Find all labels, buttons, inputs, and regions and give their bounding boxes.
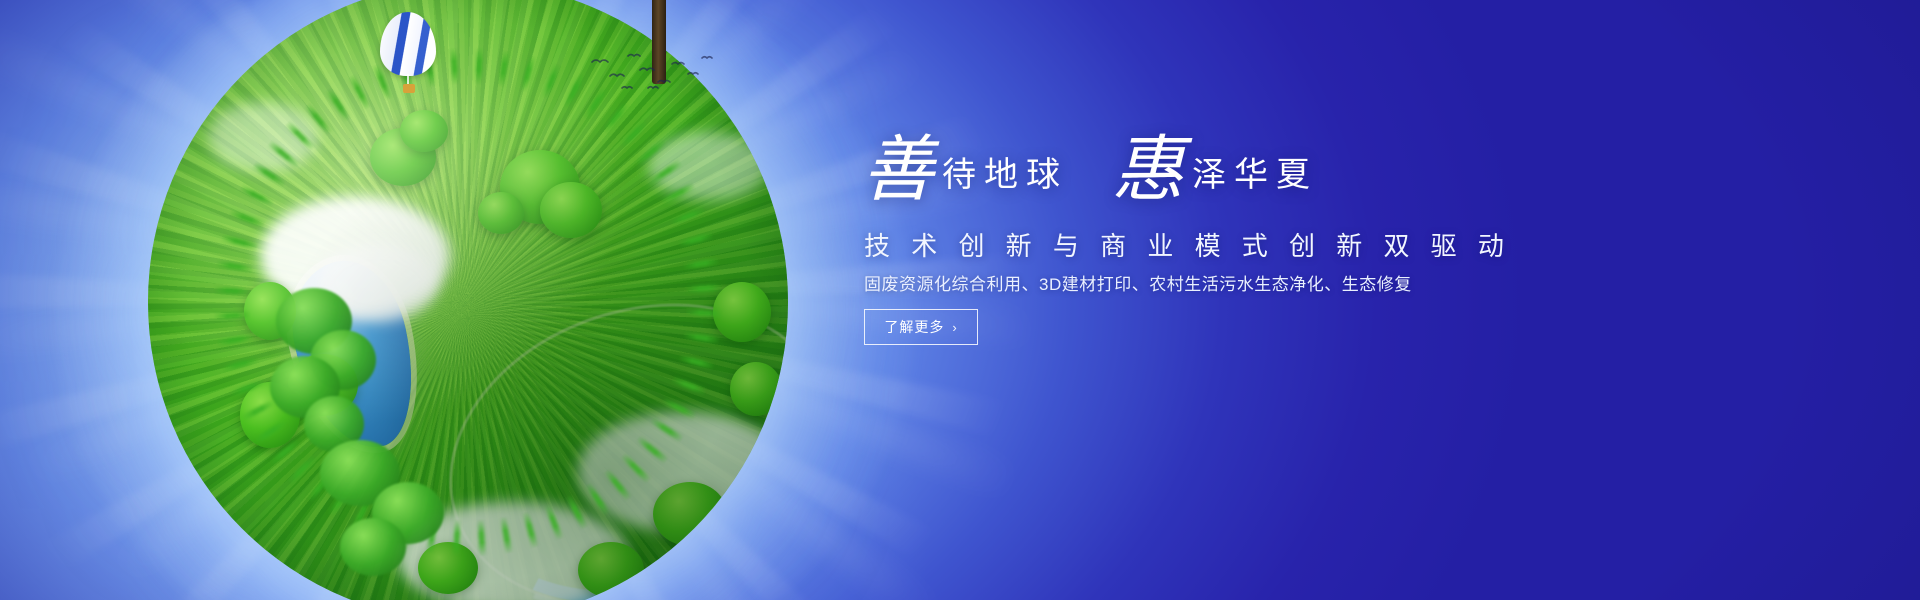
headline: 善待地球惠泽华夏 xyxy=(862,134,1318,206)
banner-content: 善待地球惠泽华夏 技 术 创 新 与 商 业 模 式 创 新 双 驱 动 固废资… xyxy=(862,0,1862,600)
subtitle: 技 术 创 新 与 商 业 模 式 创 新 双 驱 动 xyxy=(864,226,1511,263)
headline-phrase-2: 泽华夏 xyxy=(1192,157,1318,194)
learn-more-label: 了解更多 xyxy=(884,317,944,337)
hero-banner: 善待地球惠泽华夏 技 术 创 新 与 商 业 模 式 创 新 双 驱 动 固废资… xyxy=(0,0,1920,600)
headline-char-2: 惠 xyxy=(1112,130,1186,210)
headline-phrase-1: 待地球 xyxy=(942,157,1068,194)
learn-more-button[interactable]: 了解更多 › xyxy=(864,309,978,345)
headline-char-1: 善 xyxy=(862,130,936,210)
description: 固废资源化综合利用、3D建材打印、农村生活污水生态净化、生态修复 xyxy=(864,270,1412,295)
chevron-right-icon: › xyxy=(952,320,957,335)
